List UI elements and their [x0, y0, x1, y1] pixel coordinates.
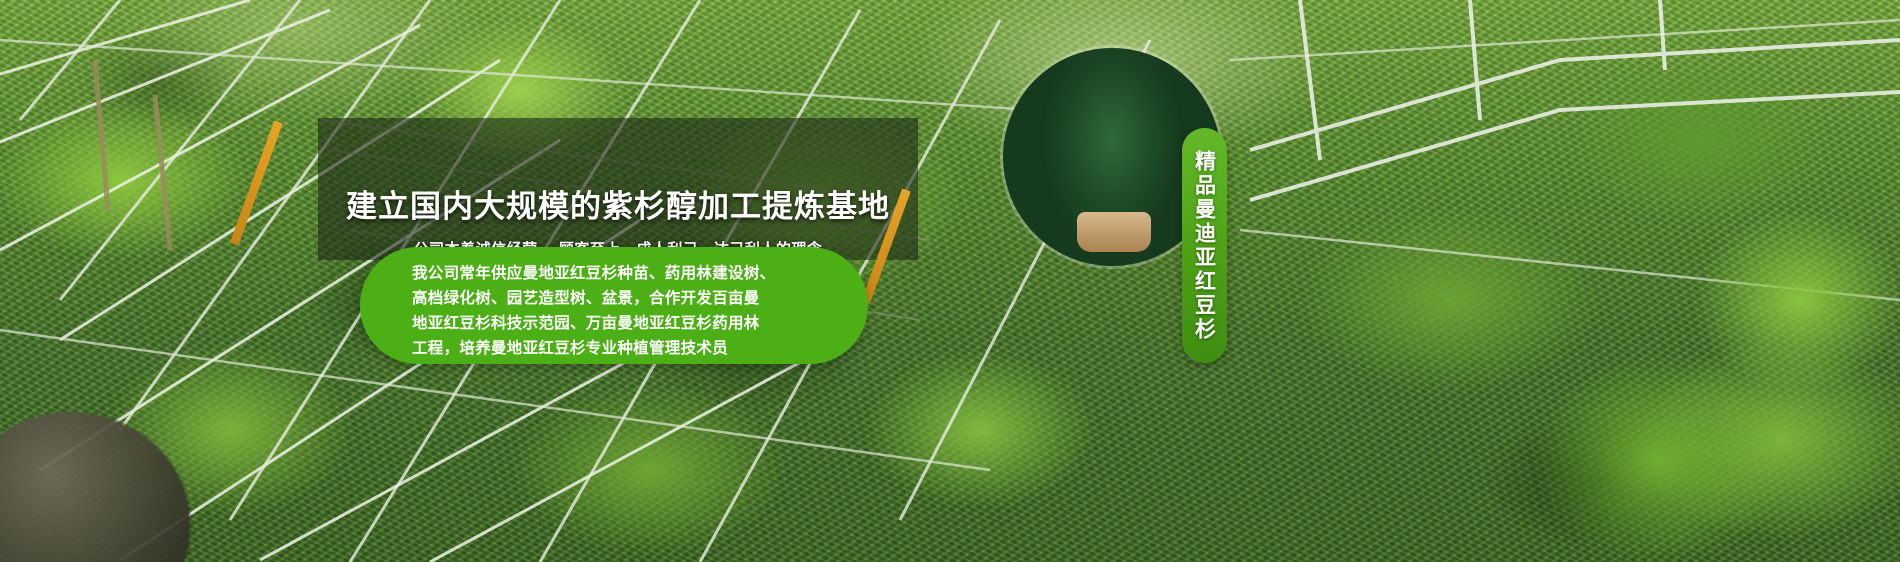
vertical-label-pill: 精品曼迪亚红豆杉	[1182, 128, 1227, 363]
hero-banner: 精品曼迪亚红豆杉 建立国内大规模的紫杉醇加工提炼基地 公司本着诚信经营、 顾客至…	[0, 0, 1900, 562]
description-line: 我公司常年供应曼地亚红豆杉种苗、药用林建设树、	[412, 261, 832, 286]
description-line: 高档绿化树、园艺造型树、盆景，合作开发百亩曼	[412, 286, 832, 311]
trellis-wires-overlay	[0, 0, 1900, 562]
description-line: 地亚红豆杉科技示范园、万亩曼地亚红豆杉药用林	[412, 311, 832, 336]
description-box: 我公司常年供应曼地亚红豆杉种苗、药用林建设树、 高档绿化树、园艺造型树、盆景，合…	[360, 247, 868, 364]
page-title: 建立国内大规模的紫杉醇加工提炼基地	[318, 190, 918, 226]
flower-pot	[1077, 212, 1151, 252]
description-line: 工程，培养曼地亚红豆杉专业种植管理技术员	[412, 336, 832, 361]
vertical-label-text: 精品曼迪亚红豆杉	[1182, 128, 1227, 363]
description-text: 我公司常年供应曼地亚红豆杉种苗、药用林建设树、 高档绿化树、园艺造型树、盆景，合…	[412, 261, 832, 361]
